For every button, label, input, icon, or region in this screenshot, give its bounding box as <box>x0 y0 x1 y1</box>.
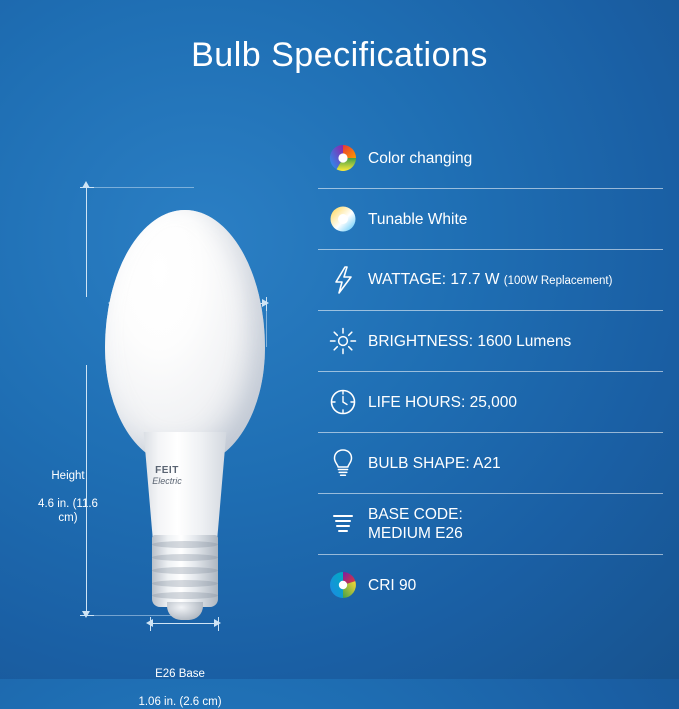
height-measure-line-lower <box>86 365 87 615</box>
diameter-extension-right <box>266 311 267 347</box>
height-tick-top <box>80 187 94 188</box>
height-label-title: Height <box>51 470 84 482</box>
height-label-value: 4.6 in. (11.6 cm) <box>38 498 98 524</box>
spec-label-color-changing: Color changing <box>368 149 472 168</box>
bulb-thread <box>152 592 218 599</box>
height-dimension-label: Height 4.6 in. (11.6 cm) <box>28 455 108 525</box>
bulb-thread <box>152 554 218 561</box>
bulb-thread <box>152 567 218 574</box>
wattage-replacement: (100W Replacement) <box>504 275 613 287</box>
bulb-shape-icon <box>318 443 368 483</box>
base-label-value: 1.06 in. (2.6 cm) <box>138 696 221 708</box>
spec-label-wattage: WATTAGE: 17.7 W (100W Replacement) <box>368 270 612 291</box>
bulb-thread <box>152 541 218 548</box>
spec-row-brightness: BRIGHTNESS: 1600 Lumens <box>318 311 663 372</box>
base-code-icon <box>318 504 368 544</box>
spec-row-life-hours: LIFE HOURS: 25,000 <box>318 372 663 433</box>
height-measure-line-upper <box>86 187 87 297</box>
spec-label-cri: CRI 90 <box>368 576 416 595</box>
height-tick-bottom <box>80 615 94 616</box>
cri-color-circle-icon <box>318 565 368 605</box>
base-code-line1: BASE CODE: <box>368 505 463 524</box>
wattage-value: WATTAGE: 17.7 W <box>368 271 499 288</box>
base-code-line2: MEDIUM E26 <box>368 524 463 543</box>
base-label-title: E26 Base <box>155 668 205 680</box>
spec-row-color-changing: Color changing <box>318 128 663 189</box>
lightning-bolt-icon <box>318 260 368 300</box>
spec-label-base-code: BASE CODE: MEDIUM E26 <box>368 505 463 543</box>
bulb-base-tip <box>167 602 203 620</box>
spec-label-brightness: BRIGHTNESS: 1600 Lumens <box>368 332 571 351</box>
bulb-neck <box>138 432 232 542</box>
bulb-illustration: FEIT Electric <box>105 210 265 630</box>
page-title: Bulb Specifications <box>0 36 679 75</box>
spec-row-cri: CRI 90 <box>318 555 663 615</box>
bulb-screw-base <box>152 535 218 607</box>
spec-row-wattage: WATTAGE: 17.7 W (100W Replacement) <box>318 250 663 311</box>
bulb-diagram: Diameter 2.3 in. (5.8 cm) Height 4.6 in.… <box>20 125 310 595</box>
bulb-specifications-page: Bulb Specifications Diameter 2.3 in. (5.… <box>0 0 679 679</box>
spec-label-bulb-shape: BULB SHAPE: A21 <box>368 454 501 473</box>
bulb-thread <box>152 580 218 587</box>
spec-label-life-hours: LIFE HOURS: 25,000 <box>368 393 517 412</box>
brightness-sun-icon <box>318 321 368 361</box>
clock-icon <box>318 382 368 422</box>
specifications-list: Color changing Tunable White <box>318 128 663 615</box>
color-wheel-icon <box>318 138 368 178</box>
spec-label-tunable-white: Tunable White <box>368 210 467 229</box>
base-dimension-label: E26 Base 1.06 in. (2.6 cm) <box>115 653 245 709</box>
brand-name-line1: FEIT <box>155 465 179 476</box>
diameter-tick-right <box>266 297 267 311</box>
height-extension-top <box>94 187 194 188</box>
brand-name-line2: Electric <box>152 476 182 486</box>
spec-row-tunable-white: Tunable White <box>318 189 663 250</box>
bulb-globe <box>105 210 265 465</box>
spec-row-base-code: BASE CODE: MEDIUM E26 <box>318 494 663 555</box>
bulb-brand-logo: FEIT Electric <box>127 465 207 487</box>
tunable-white-icon <box>318 199 368 239</box>
spec-row-bulb-shape: BULB SHAPE: A21 <box>318 433 663 494</box>
